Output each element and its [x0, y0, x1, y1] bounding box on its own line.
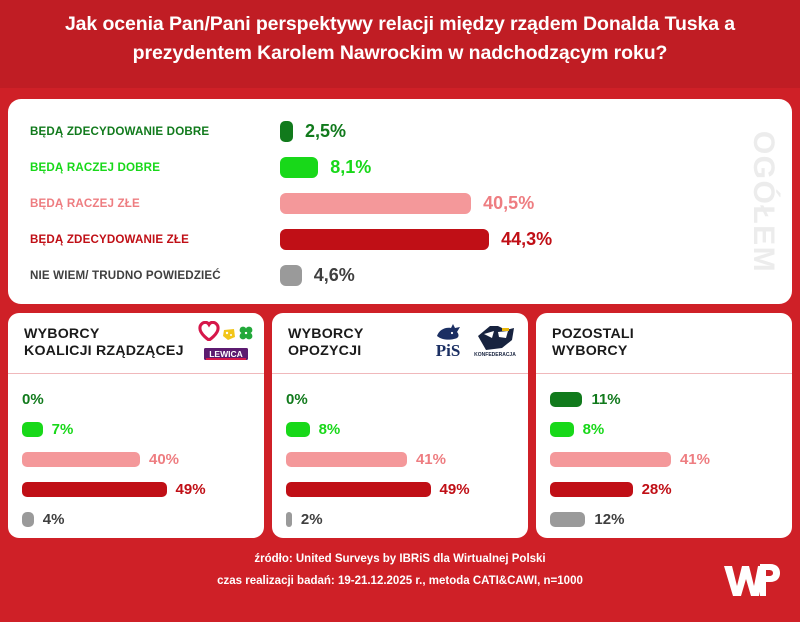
panel-rows: 11%8%41%28%12% [536, 374, 792, 534]
overall-row-track: 4,6% [280, 257, 792, 293]
overall-bar [280, 157, 318, 178]
overall-rows: BĘDĄ ZDECYDOWANIE DOBRE2,5%BĘDĄ RACZEJ D… [8, 113, 792, 293]
overall-bar [280, 265, 302, 286]
panel-rows: 0%7%40%49%4% [8, 374, 264, 534]
panel-value-label: 40% [149, 451, 179, 468]
overall-row: BĘDĄ ZDECYDOWANIE DOBRE2,5% [8, 113, 792, 149]
svg-text:LEWICA: LEWICA [209, 349, 243, 359]
panel-row: 12% [536, 504, 792, 534]
ko-heart-icon [198, 321, 220, 346]
panel-value-label: 4% [43, 511, 65, 528]
footer-source: źródło: United Surveys by IBRiS dla Wirt… [0, 548, 800, 570]
svg-text:KONFEDERACJA: KONFEDERACJA [474, 352, 516, 358]
overall-bar [280, 193, 471, 214]
panel-bar [550, 512, 585, 527]
panel-value-label: 49% [176, 481, 206, 498]
panel-row: 2% [272, 504, 528, 534]
panel-value-label: 28% [642, 481, 672, 498]
segment-panel: WYBORCY KOALICJI RZĄDZĄCEJLEWICA0%7%40%4… [8, 313, 264, 538]
panel-bar [286, 512, 292, 527]
panel-title: WYBORCY OPOZYCJI [288, 326, 364, 360]
overall-value-label: 2,5% [305, 121, 346, 142]
overall-bar [280, 121, 293, 142]
panel-row: 4% [8, 504, 264, 534]
panel-value-label: 2% [301, 511, 323, 528]
panel-header: POZOSTALI WYBORCY [536, 313, 792, 374]
overall-row: BĘDĄ ZDECYDOWANIE ZŁE44,3% [8, 221, 792, 257]
overall-row-track: 44,3% [280, 221, 792, 257]
footer-method: czas realizacji badań: 19-21.12.2025 r.,… [0, 570, 800, 592]
panel-row: 41% [272, 444, 528, 474]
ko-psl-row [198, 321, 254, 346]
panel-row: 41% [536, 444, 792, 474]
panel-row: 0% [272, 384, 528, 414]
panel-bar [22, 482, 167, 497]
panel-title: POZOSTALI WYBORCY [552, 326, 634, 360]
panel-bar [550, 392, 582, 407]
overall-row-track: 40,5% [280, 185, 792, 221]
overall-value-label: 40,5% [483, 193, 534, 214]
panel-row: 49% [8, 474, 264, 504]
overall-value-label: 8,1% [330, 157, 371, 178]
panel-value-label: 49% [440, 481, 470, 498]
overall-row-label: BĘDĄ RACZEJ DOBRE [8, 161, 280, 174]
polska2050-icon [222, 328, 236, 346]
panel-value-label: 12% [594, 511, 624, 528]
panel-bar [286, 482, 431, 497]
panel-value-label: 0% [22, 391, 44, 408]
panel-bar [22, 512, 34, 527]
segment-panel: WYBORCY OPOZYCJIPiSKONFEDERACJA0%8%41%49… [272, 313, 528, 538]
panel-bar [22, 452, 140, 467]
konfederacja-icon: KONFEDERACJA [472, 322, 518, 365]
overall-results-card: OGÓŁEM BĘDĄ ZDECYDOWANIE DOBRE2,5%BĘDĄ R… [8, 99, 792, 304]
page-title: Jak ocenia Pan/Pani perspektywy relacji … [0, 10, 800, 68]
panel-bar [286, 422, 310, 437]
panel-value-label: 8% [583, 421, 605, 438]
panel-row: 8% [536, 414, 792, 444]
panel-bar [22, 422, 43, 437]
overall-row-track: 2,5% [280, 113, 792, 149]
overall-row-label: BĘDĄ ZDECYDOWANIE DOBRE [8, 125, 280, 138]
overall-row-track: 8,1% [280, 149, 792, 185]
panel-value-label: 11% [591, 391, 620, 408]
overall-row: NIE WIEM/ TRUDNO POWIEDZIEĆ4,6% [8, 257, 792, 293]
segment-panels: WYBORCY KOALICJI RZĄDZĄCEJLEWICA0%7%40%4… [8, 313, 792, 538]
panel-title: WYBORCY KOALICJI RZĄDZĄCEJ [24, 326, 184, 360]
overall-row-label: BĘDĄ ZDECYDOWANIE ZŁE [8, 233, 280, 246]
panel-value-label: 0% [286, 391, 308, 408]
wp-logo [720, 556, 782, 604]
ko-lewica-group: LEWICA [198, 321, 254, 366]
segment-panel: POZOSTALI WYBORCY11%8%41%28%12% [536, 313, 792, 538]
footer: źródło: United Surveys by IBRiS dla Wirt… [0, 548, 800, 592]
panel-row: 28% [536, 474, 792, 504]
panel-row: 0% [8, 384, 264, 414]
overall-bar [280, 229, 489, 250]
panel-header: WYBORCY KOALICJI RZĄDZĄCEJLEWICA [8, 313, 264, 374]
pis-icon: PiS [427, 322, 469, 365]
panel-value-label: 7% [52, 421, 74, 438]
panel-row: 8% [272, 414, 528, 444]
overall-value-label: 44,3% [501, 229, 552, 250]
svg-text:PiS: PiS [436, 341, 461, 360]
panel-bar [550, 482, 633, 497]
psl-clover-icon [238, 325, 254, 346]
panel-value-label: 8% [319, 421, 341, 438]
panel-row: 49% [272, 474, 528, 504]
overall-row: BĘDĄ RACZEJ ZŁE40,5% [8, 185, 792, 221]
panel-rows: 0%8%41%49%2% [272, 374, 528, 534]
panel-bar [550, 422, 574, 437]
panel-value-label: 41% [680, 451, 710, 468]
overall-row-label: NIE WIEM/ TRUDNO POWIEDZIEĆ [8, 269, 280, 282]
overall-row-label: BĘDĄ RACZEJ ZŁE [8, 197, 280, 210]
panel-value-label: 41% [416, 451, 446, 468]
overall-value-label: 4,6% [314, 265, 355, 286]
panel-header: WYBORCY OPOZYCJIPiSKONFEDERACJA [272, 313, 528, 374]
panel-logos: PiSKONFEDERACJA [427, 322, 518, 365]
lewica-badge-icon: LEWICA [204, 347, 248, 366]
panel-bar [286, 452, 407, 467]
panel-bar [550, 452, 671, 467]
panel-row: 11% [536, 384, 792, 414]
panel-row: 7% [8, 414, 264, 444]
panel-row: 40% [8, 444, 264, 474]
panel-logos: LEWICA [198, 321, 254, 366]
overall-row: BĘDĄ RACZEJ DOBRE8,1% [8, 149, 792, 185]
